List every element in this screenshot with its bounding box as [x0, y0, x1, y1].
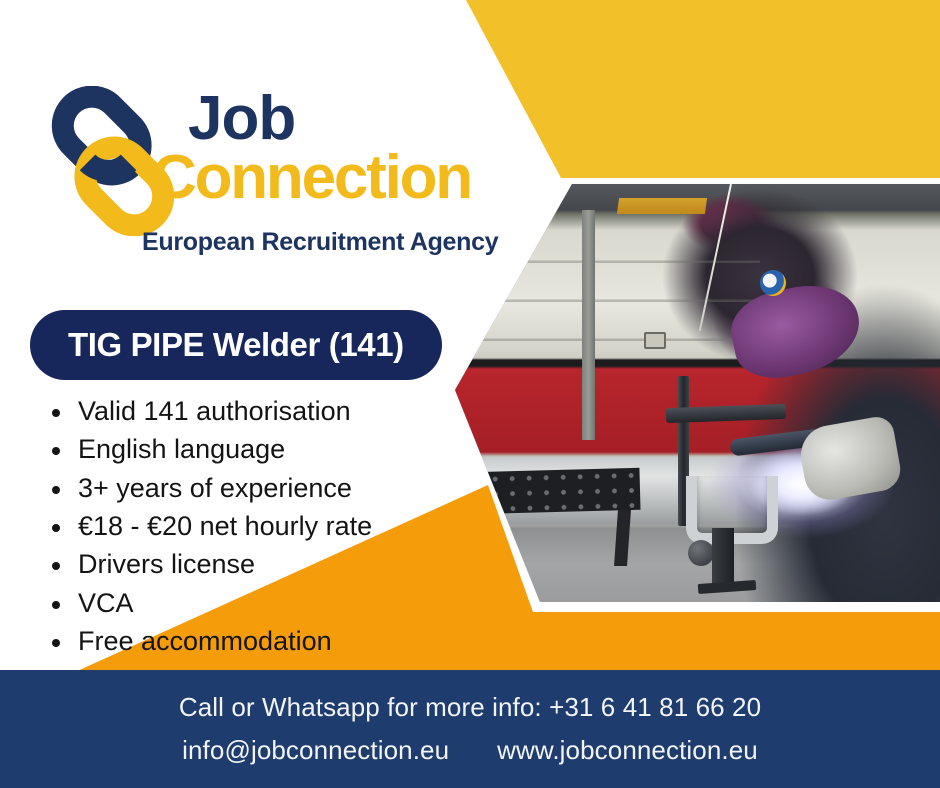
brand-tagline: European Recruitment Agency: [142, 228, 498, 257]
contact-website[interactable]: www.jobconnection.eu: [497, 735, 758, 766]
job-advertisement-poster: Job Connection European Recruitment Agen…: [0, 0, 940, 788]
list-item: Drivers license: [44, 545, 444, 583]
clamp-ball-end: [688, 540, 714, 566]
contact-footer-bar: Call or Whatsapp for more info: +31 6 41…: [0, 670, 940, 788]
job-title-badge: TIG PIPE Welder (141): [30, 310, 442, 380]
brand-name-line2: Connection: [152, 149, 488, 207]
list-item: Valid 141 authorisation: [44, 392, 444, 430]
welding-glove: [796, 414, 903, 504]
job-requirements-list: Valid 141 authorisation English language…: [44, 392, 444, 660]
brand-name-line1: Job: [188, 90, 488, 147]
list-item: Free accommodation: [44, 622, 444, 660]
wall-column: [582, 210, 595, 440]
clamp-horizontal-bar: [666, 404, 786, 423]
job-title-text: TIG PIPE Welder (141): [68, 326, 404, 364]
list-item: VCA: [44, 584, 444, 622]
list-item: 3+ years of experience: [44, 469, 444, 507]
list-item: €18 - €20 net hourly rate: [44, 507, 444, 545]
pipe-stand-foot: [698, 580, 757, 594]
wall-socket: [644, 332, 666, 349]
contact-email[interactable]: info@jobconnection.eu: [182, 735, 449, 766]
list-item: English language: [44, 430, 444, 468]
contact-phone-line[interactable]: Call or Whatsapp for more info: +31 6 41…: [179, 692, 761, 723]
contact-links-row: info@jobconnection.eu www.jobconnection.…: [182, 735, 758, 766]
table-leg-right: [614, 510, 631, 566]
brand-logo: Job Connection European Recruitment Agen…: [38, 86, 468, 261]
brand-wordmark: Job Connection: [188, 90, 488, 207]
ceiling-beam: [617, 198, 707, 214]
